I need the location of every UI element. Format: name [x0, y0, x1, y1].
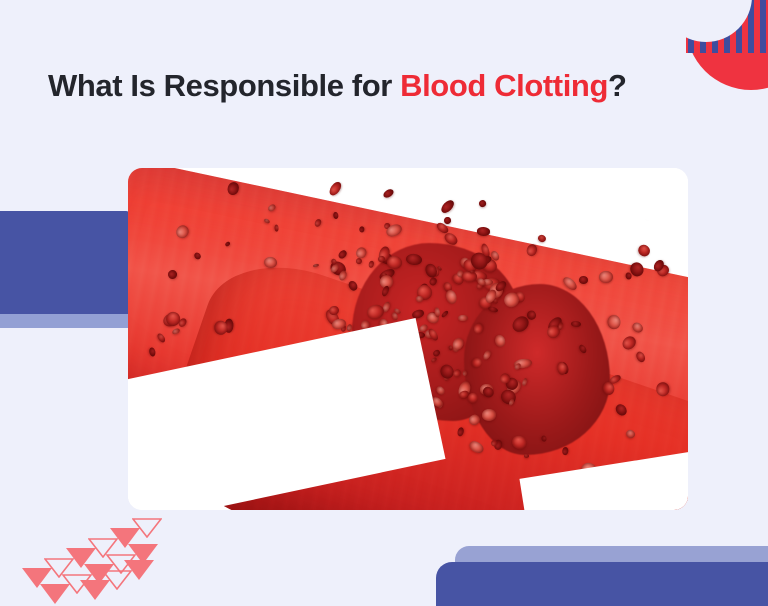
triangle-outline — [132, 518, 162, 538]
red-blood-cell — [214, 320, 228, 334]
page-title-trailing: ? — [608, 68, 627, 103]
triangle-filled — [124, 560, 154, 580]
bottom-right-blue-slab — [436, 562, 768, 606]
red-blood-cell — [274, 225, 279, 232]
blood-clot-mass-secondary — [464, 284, 610, 455]
page-title-lead: What Is Responsible for — [48, 68, 400, 103]
hero-image-card — [128, 168, 688, 510]
left-blue-slab-shadow — [0, 314, 138, 328]
red-blood-cell-clot — [416, 295, 423, 302]
page-title-accent: Blood Clotting — [400, 68, 608, 103]
striped-circle-decoration — [686, 0, 768, 90]
triangle-pattern-decoration — [22, 506, 182, 598]
blood-vessel-illustration — [128, 168, 688, 510]
left-blue-slab — [0, 211, 130, 315]
page-title: What Is Responsible for Blood Clotting? — [48, 68, 627, 104]
infographic-canvas: What Is Responsible for Blood Clotting? — [0, 0, 768, 606]
